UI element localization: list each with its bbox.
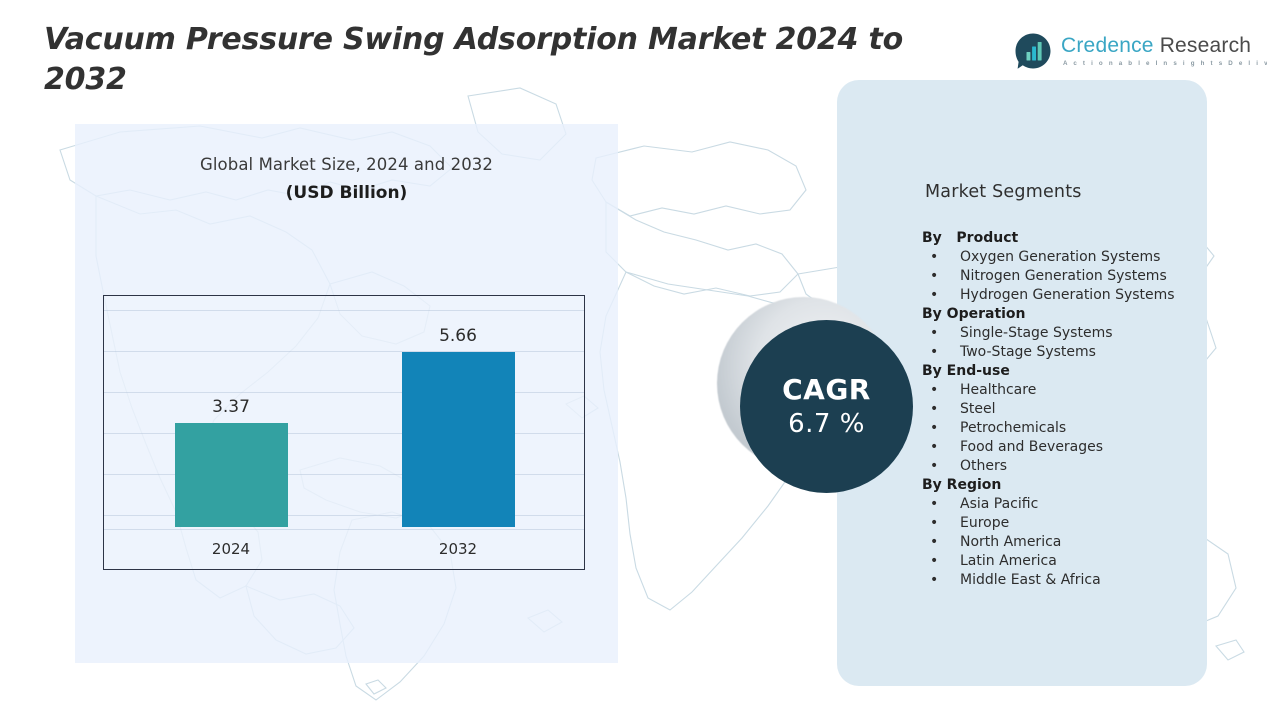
segment-item-label: Petrochemicals (960, 420, 1066, 436)
logo-word-research: Research (1154, 34, 1252, 57)
bullet-icon: • (930, 438, 938, 457)
segment-item-label: Steel (960, 401, 996, 417)
bullet-icon: • (930, 533, 938, 552)
bar-2024 (175, 423, 288, 527)
segment-list-item: •North America (922, 533, 1222, 552)
logo-wordmark: Credence Research (1061, 35, 1267, 56)
bullet-icon: • (930, 248, 938, 267)
gridline (104, 310, 584, 311)
bullet-icon: • (930, 552, 938, 571)
bar-chart-speech-bubble-icon (1013, 31, 1053, 71)
chart-card: Global Market Size, 2024 and 2032 (USD B… (75, 124, 618, 663)
segment-list-item: •Nitrogen Generation Systems (922, 267, 1222, 286)
segment-list-item: •Europe (922, 514, 1222, 533)
segment-list-item: •Hydrogen Generation Systems (922, 286, 1222, 305)
cagr-badge: CAGR 6.7 % (717, 297, 913, 493)
segment-item-label: North America (960, 534, 1061, 550)
market-segments-list: By Product•Oxygen Generation Systems•Nit… (922, 229, 1222, 590)
gridline (104, 529, 584, 530)
segment-item-label: Latin America (960, 553, 1057, 569)
segment-list-item: •Steel (922, 400, 1222, 419)
segment-item-label: Hydrogen Generation Systems (960, 287, 1175, 303)
segment-item-label: Middle East & Africa (960, 572, 1101, 588)
segment-list-item: •Middle East & Africa (922, 571, 1222, 590)
bullet-icon: • (930, 324, 938, 343)
bullet-icon: • (930, 457, 938, 476)
segment-group-heading: By Operation (922, 305, 1222, 324)
brand-logo: Credence Research A c t i o n a b l e I … (1013, 28, 1245, 74)
segment-list-item: •Oxygen Generation Systems (922, 248, 1222, 267)
logo-tagline: A c t i o n a b l e I n s i g h t s D e … (1063, 60, 1267, 67)
segment-list-item: •Healthcare (922, 381, 1222, 400)
page-title: Vacuum Pressure Swing Adsorption Market … (44, 20, 974, 99)
bullet-icon: • (930, 381, 938, 400)
bullet-icon: • (930, 343, 938, 362)
bar-2032 (402, 352, 515, 527)
bullet-icon: • (930, 495, 938, 514)
market-segments-title: Market Segments (925, 182, 1082, 202)
bar-chart-plot-area: 3.37 5.66 2024 2032 (103, 295, 585, 570)
segment-group-heading: By Product (922, 229, 1222, 248)
cagr-circle: CAGR 6.7 % (740, 320, 913, 493)
segment-item-label: Oxygen Generation Systems (960, 249, 1160, 265)
chart-subheading: (USD Billion) (75, 183, 618, 203)
infographic-page: Vacuum Pressure Swing Adsorption Market … (0, 0, 1267, 713)
segment-item-label: Food and Beverages (960, 439, 1103, 455)
bullet-icon: • (930, 267, 938, 286)
bar-category-2024: 2024 (161, 540, 301, 558)
segment-item-label: Asia Pacific (960, 496, 1038, 512)
segment-list-item: •Single-Stage Systems (922, 324, 1222, 343)
bar-value-2032: 5.66 (388, 326, 528, 346)
segment-list-item: •Food and Beverages (922, 438, 1222, 457)
segment-item-label: Single-Stage Systems (960, 325, 1113, 341)
segment-list-item: •Others (922, 457, 1222, 476)
bullet-icon: • (930, 571, 938, 590)
cagr-label: CAGR (782, 375, 871, 406)
segment-item-label: Others (960, 458, 1007, 474)
logo-text-block: Credence Research A c t i o n a b l e I … (1061, 35, 1267, 67)
segment-list-item: •Petrochemicals (922, 419, 1222, 438)
segment-item-label: Europe (960, 515, 1009, 531)
segment-group-heading: By Region (922, 476, 1222, 495)
segment-item-label: Healthcare (960, 382, 1036, 398)
segment-item-label: Two-Stage Systems (960, 344, 1096, 360)
chart-heading: Global Market Size, 2024 and 2032 (75, 155, 618, 174)
segment-list-item: •Two-Stage Systems (922, 343, 1222, 362)
bullet-icon: • (930, 514, 938, 533)
segment-list-item: •Latin America (922, 552, 1222, 571)
cagr-value: 6.7 % (788, 410, 865, 439)
bullet-icon: • (930, 286, 938, 305)
bullet-icon: • (930, 419, 938, 438)
bar-category-2032: 2032 (388, 540, 528, 558)
segment-group-heading: By End-use (922, 362, 1222, 381)
bar-value-2024: 3.37 (161, 397, 301, 417)
bullet-icon: • (930, 400, 938, 419)
segment-list-item: •Asia Pacific (922, 495, 1222, 514)
segment-item-label: Nitrogen Generation Systems (960, 268, 1167, 284)
logo-word-credence: Credence (1061, 34, 1154, 57)
